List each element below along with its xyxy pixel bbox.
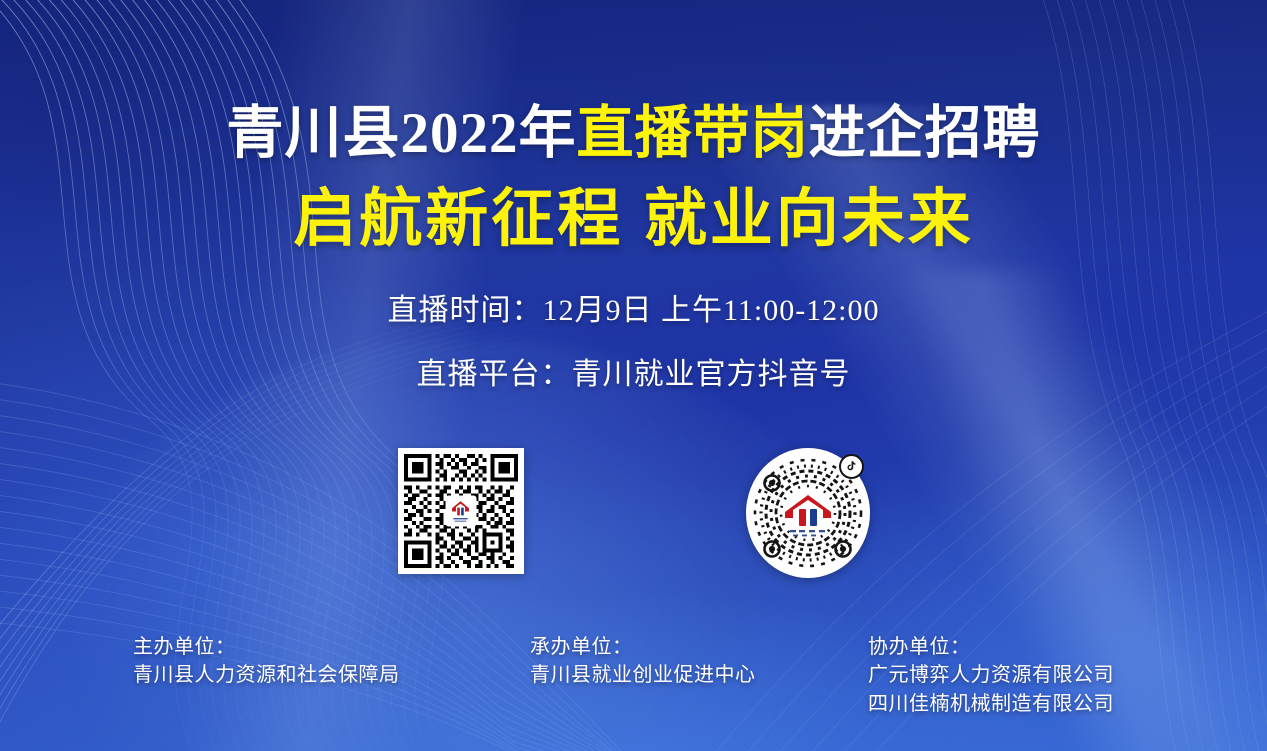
- title-segment-highlight: 直播带岗: [577, 102, 809, 165]
- code-row: [0, 448, 1267, 578]
- qr-code[interactable]: [398, 448, 524, 574]
- douyin-note-icon: [839, 454, 864, 479]
- coorganizer-name-2: 四川佳楠机械制造有限公司: [868, 690, 1114, 718]
- host-organisation: 主办单位： 青川县人力资源和社会保障局: [133, 633, 400, 690]
- organizer-name: 青川县就业创业促进中心: [530, 661, 756, 689]
- broadcast-time: 直播时间：12月9日 上午11:00-12:00: [387, 285, 879, 329]
- douyin-qr-code[interactable]: [746, 448, 870, 578]
- qr-center-logo: [445, 496, 476, 527]
- host-label: 主办单位：: [133, 633, 400, 661]
- organisations-footer: 主办单位： 青川县人力资源和社会保障局 承办单位： 青川县就业创业促进中心 协办…: [0, 621, 1267, 733]
- coorganizer-label: 协办单位：: [868, 633, 1114, 661]
- poster-subtitle: 启航新征程 就业向未来: [293, 186, 974, 252]
- coorganizer-name-1: 广元博弈人力资源有限公司: [868, 661, 1114, 689]
- organizer-organisation: 承办单位： 青川县就业创业促进中心: [530, 633, 756, 690]
- host-name: 青川县人力资源和社会保障局: [133, 661, 400, 689]
- douyin-center-logo: [781, 493, 835, 539]
- coorganizer-organisation: 协办单位： 广元博弈人力资源有限公司 四川佳楠机械制造有限公司: [868, 633, 1114, 718]
- organizer-label: 承办单位：: [530, 633, 756, 661]
- promotional-poster: 青川县2022年直播带岗进企招聘 启航新征程 就业向未来 直播时间：12月9日 …: [0, 0, 1267, 751]
- poster-title: 青川县2022年直播带岗进企招聘: [227, 104, 1041, 164]
- title-segment-prefix: 青川县2022年: [227, 102, 577, 165]
- title-segment-suffix: 进企招聘: [809, 102, 1041, 165]
- broadcast-platform: 直播平台：青川就业官方抖音号: [417, 349, 851, 393]
